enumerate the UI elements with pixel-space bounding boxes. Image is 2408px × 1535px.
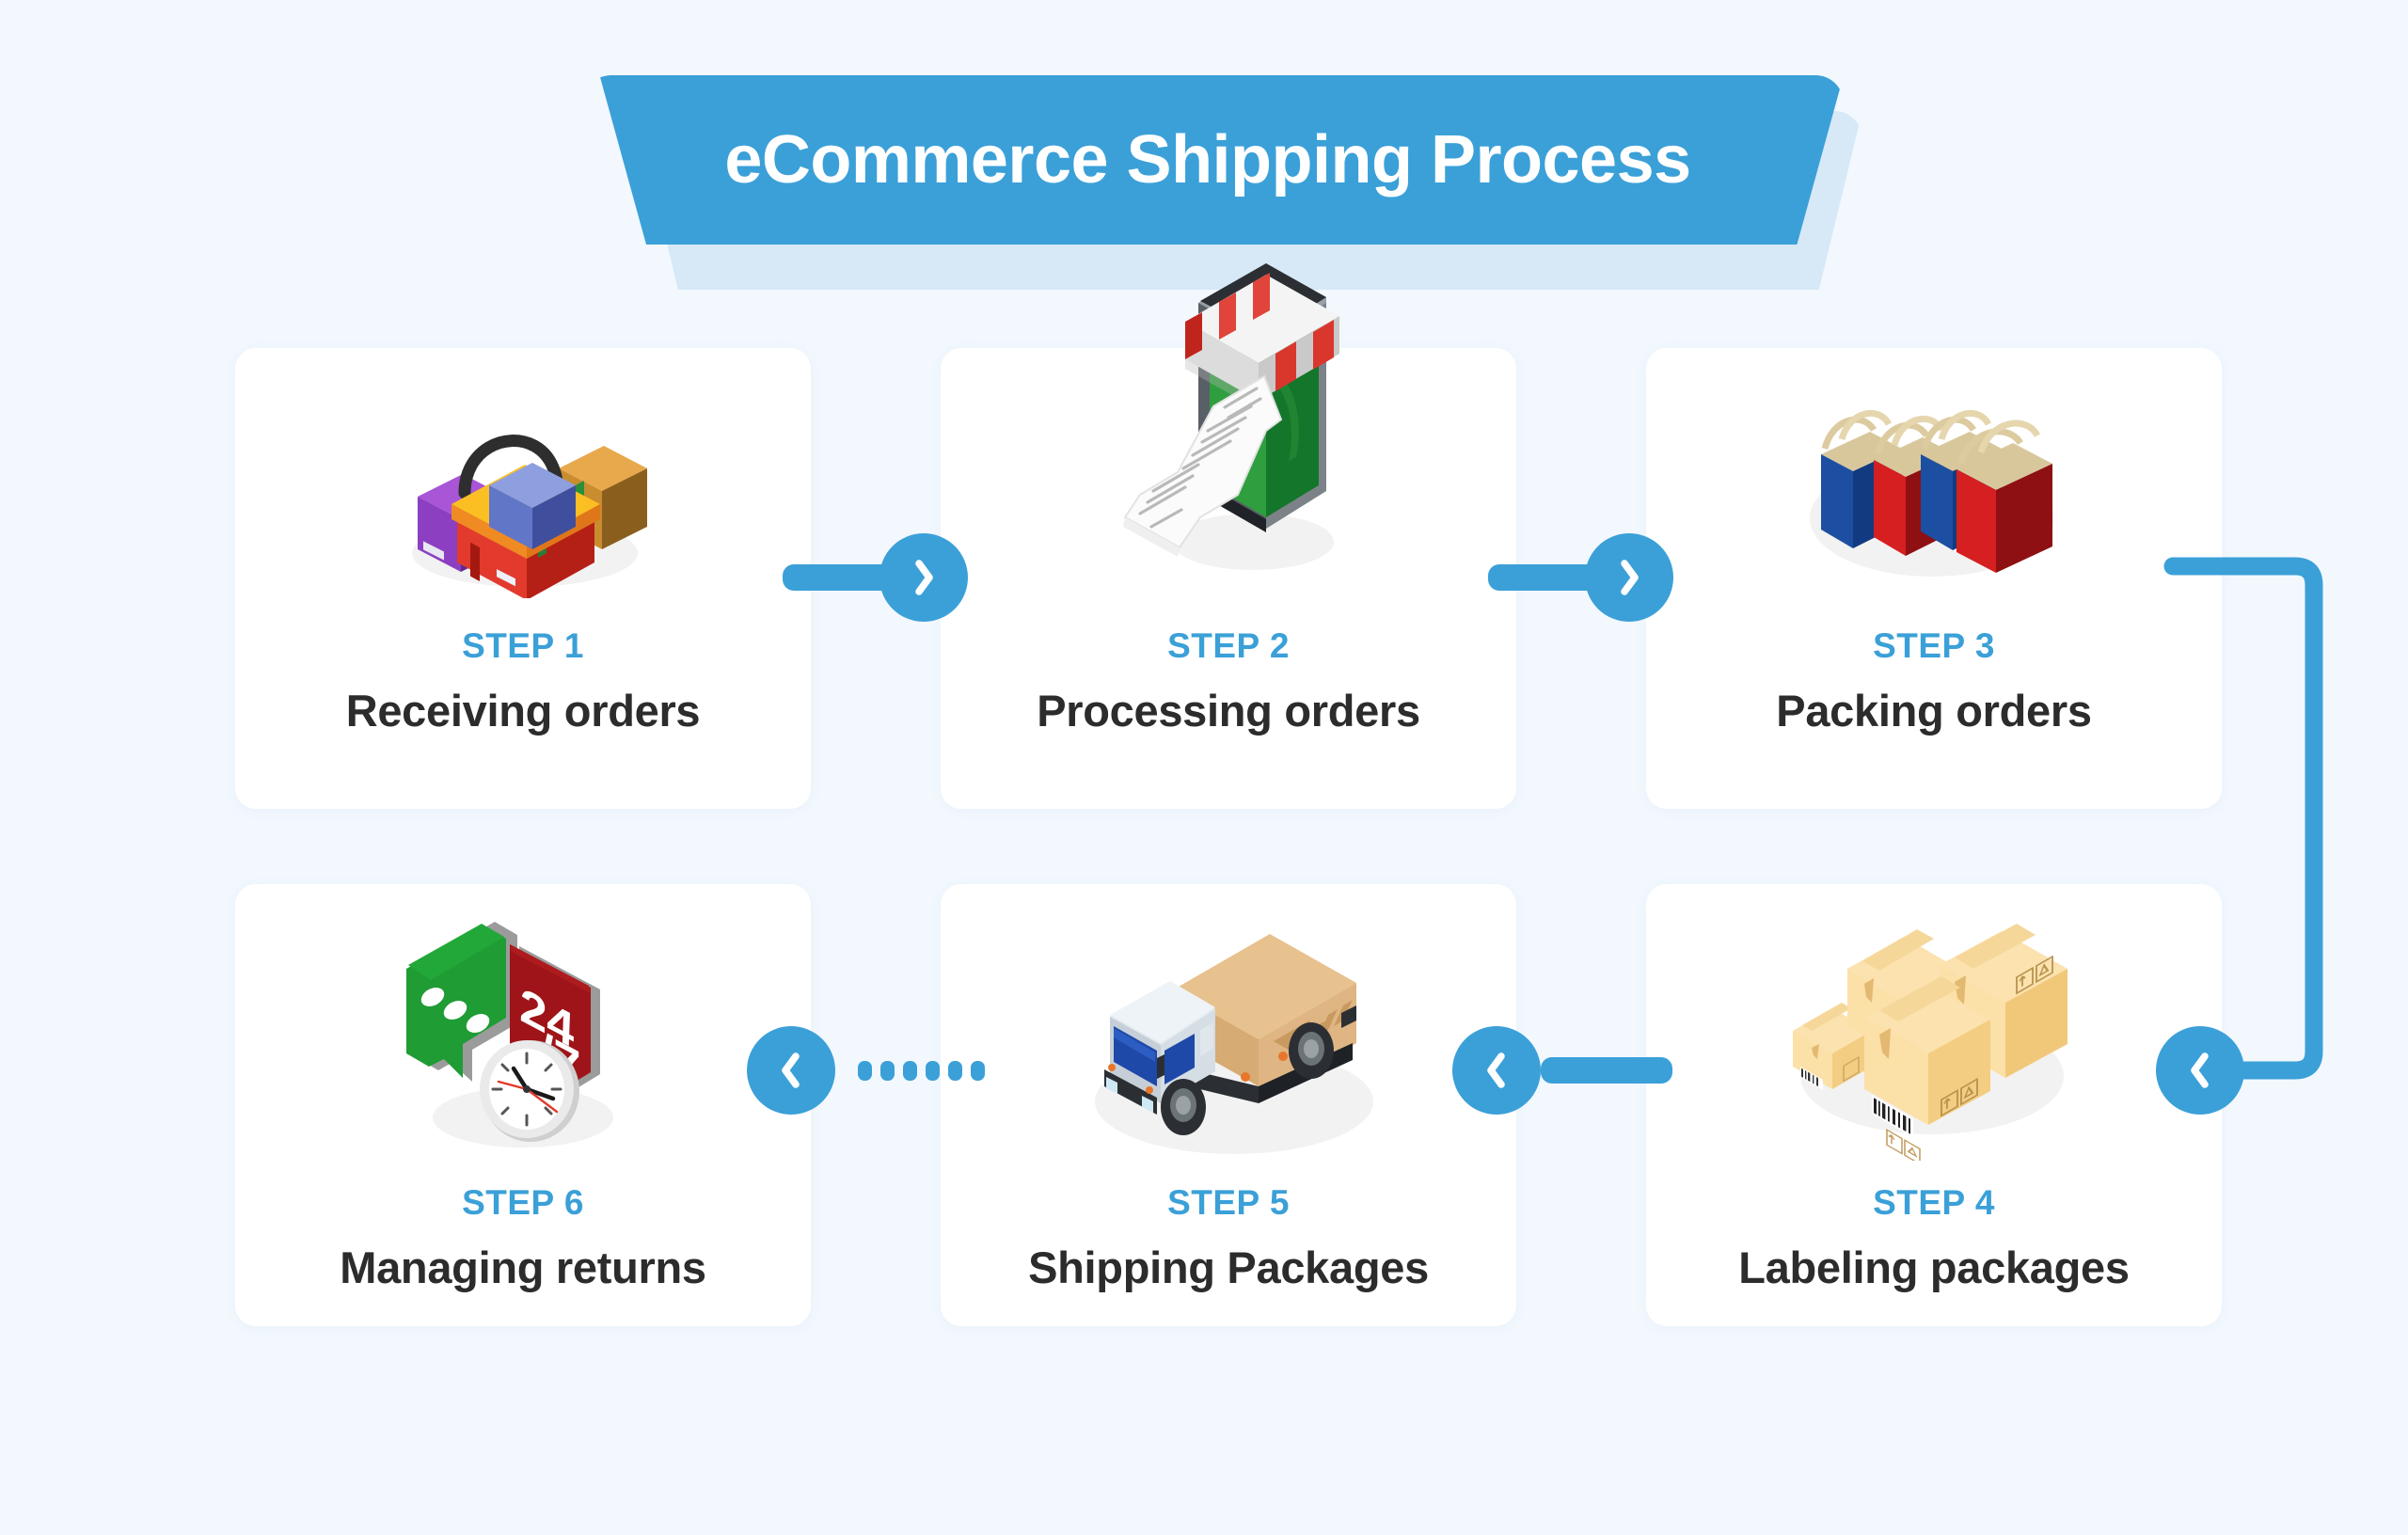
chevron-left-icon: [1484, 1050, 1509, 1091]
step-2-illustration: [941, 235, 1516, 611]
title-banner-body: eCommerce Shipping Process: [583, 75, 1844, 245]
step-3-label: STEP 3: [1646, 626, 2222, 666]
step-6-title: Managing returns: [235, 1242, 811, 1293]
page-title: eCommerce Shipping Process: [724, 121, 1690, 198]
step-5-title: Shipping Packages: [941, 1242, 1516, 1293]
cardboard-boxes-icon: [1774, 907, 2094, 1161]
step-4-title: Labeling packages: [1646, 1242, 2222, 1293]
mobile-store-receipt-icon: [1087, 235, 1370, 611]
shopping-basket-with-boxes-icon: [391, 391, 655, 598]
step-1-title: Receiving orders: [235, 685, 811, 736]
step-6-illustration: 24 /7: [235, 897, 811, 1170]
connector-arrow-step1-step2[interactable]: [879, 533, 968, 622]
step-5-illustration: [941, 897, 1516, 1170]
connector-elbow-step3-step4: [2163, 555, 2380, 1100]
step-4-illustration: [1646, 897, 2222, 1170]
step-3-illustration: [1646, 372, 2222, 617]
step-card-6[interactable]: 24 /7: [235, 884, 811, 1326]
step-2-label: STEP 2: [941, 626, 1516, 666]
chevron-right-icon: [911, 557, 936, 598]
step-card-4[interactable]: STEP 4 Labeling packages: [1646, 884, 2222, 1326]
step-2-title: Processing orders: [941, 685, 1516, 736]
chat-support-24-7-clock-icon: 24 /7: [382, 907, 664, 1161]
connector-arrow-step3-step4[interactable]: [2156, 1026, 2244, 1115]
step-1-illustration: [235, 372, 811, 617]
delivery-truck-icon: [1059, 902, 1398, 1165]
chevron-left-icon: [2188, 1050, 2212, 1091]
shopping-bags-icon: [1783, 387, 2084, 603]
connector-arrow-step5-step6[interactable]: [747, 1026, 835, 1115]
step-1-label: STEP 1: [235, 626, 811, 666]
step-card-5[interactable]: STEP 5 Shipping Packages: [941, 884, 1516, 1326]
step-card-1[interactable]: STEP 1 Receiving orders: [235, 348, 811, 809]
connector-bar-step4-step5: [1541, 1057, 1672, 1084]
connector-arrow-step4-step5[interactable]: [1452, 1026, 1541, 1115]
step-3-title: Packing orders: [1646, 685, 2222, 736]
step-card-2[interactable]: STEP 2 Processing orders: [941, 348, 1516, 809]
chevron-left-icon: [779, 1050, 803, 1091]
chevron-right-icon: [1617, 557, 1641, 598]
step-6-label: STEP 6: [235, 1183, 811, 1223]
infographic-canvas: eCommerce Shipping Process: [0, 0, 2408, 1535]
connector-arrow-step2-step3[interactable]: [1585, 533, 1673, 622]
step-5-label: STEP 5: [941, 1183, 1516, 1223]
connector-dots-step5-step6: [858, 1061, 985, 1081]
step-card-3[interactable]: STEP 3 Packing orders: [1646, 348, 2222, 809]
step-4-label: STEP 4: [1646, 1183, 2222, 1223]
